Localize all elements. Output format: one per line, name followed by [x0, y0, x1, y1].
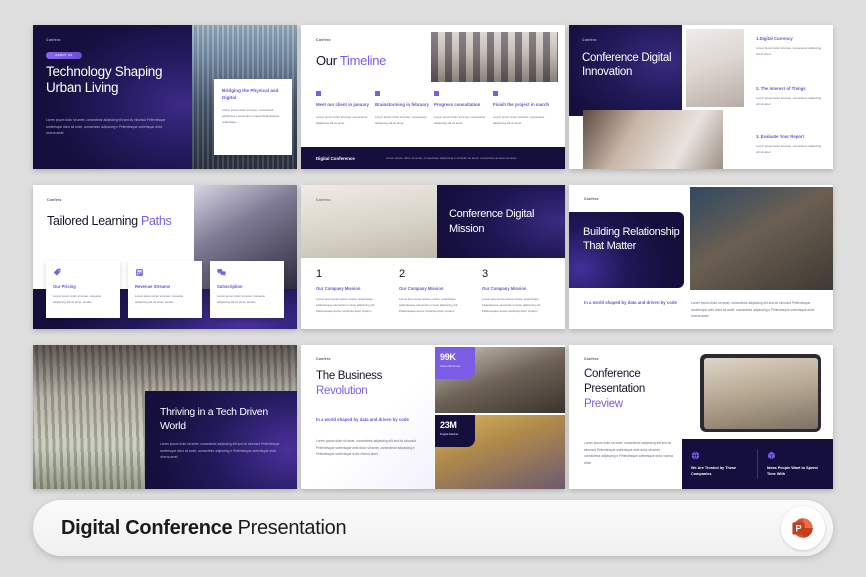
- globe-icon: [691, 451, 700, 460]
- slide2-logo: Confero: [316, 38, 331, 42]
- slide3-item-1-label: 1.Digital Currency: [756, 36, 824, 41]
- slide6-subtitle: In a world shaped by data and driven by …: [584, 299, 677, 306]
- slide9-panel-item-1-title: We Are Trusted by These Companies: [691, 465, 748, 477]
- price-tag-icon: [53, 268, 62, 277]
- slide4-title: Tailored Learning Paths: [47, 213, 197, 229]
- slide1-title: Technology Shaping Urban Living: [46, 64, 186, 97]
- step-marker-icon: [434, 91, 439, 96]
- slide2-title: Our Timeline: [316, 53, 386, 68]
- slide4-card-2-title: Revenue Streams: [135, 284, 195, 289]
- slide3-item-2-label: 2. The Interest of Things: [756, 86, 824, 91]
- slide8-logo: Confero: [316, 357, 331, 361]
- slide2-title-part2: Timeline: [340, 53, 386, 68]
- slide8-stat-2-label: Digital Market: [440, 432, 470, 436]
- preview-canvas: Confero ABOUT US Technology Shaping Urba…: [0, 0, 866, 577]
- slide5-col-2-body: Lorem ipsu conse tectus ornare, sceleris…: [399, 296, 471, 314]
- slide5-logo: Confero: [316, 198, 331, 202]
- slide8-stat-1-label: Client Business: [440, 364, 470, 368]
- slide5-col-3-number: 3: [482, 268, 554, 280]
- slide1-panel: [33, 25, 192, 169]
- slide1-body: Lorem ipsum dolor sit amet, consectetur …: [46, 117, 166, 137]
- slide-thumbnail-1[interactable]: Confero ABOUT US Technology Shaping Urba…: [33, 25, 297, 169]
- slide2-photo: [431, 32, 558, 82]
- slide-thumbnail-9[interactable]: Confero Conference PresentationPreview L…: [569, 345, 833, 489]
- slide7-body: Lorem ipsum dolor sit amet, consectetur …: [160, 441, 284, 461]
- slide4-title-part1: Tailored Learning: [47, 214, 141, 228]
- slide2-title-part1: Our: [316, 53, 340, 68]
- slide2-step-3-label: Progress consultation: [434, 102, 492, 109]
- slide9-tablet-frame: [700, 354, 821, 432]
- slide8-title: The BusinessRevolution: [316, 369, 432, 399]
- slide9-panel-item-2-title: Ideas People Want to Spend Time With: [767, 465, 824, 477]
- slide9-title-part2: Preview: [584, 398, 623, 410]
- slide9-panel-item-2: Ideas People Want to Spend Time With: [758, 451, 833, 477]
- slide1-card-body: Lorem ipsum dolor sit amet, consectetur …: [222, 107, 284, 125]
- slide5-col-1-number: 1: [316, 268, 388, 280]
- slide1-badge: ABOUT US: [46, 52, 82, 59]
- slide-thumbnail-8[interactable]: Confero The BusinessRevolution In a worl…: [301, 345, 565, 489]
- slide1-card: Bridging the Physical and Digital Lorem …: [214, 79, 292, 155]
- slide2-step-1: Meet our client in january Lorem ipsum d…: [316, 91, 374, 126]
- slide8-stat-1: 99K Client Business: [435, 347, 475, 379]
- slide5-title-panel: Conference Digital Mission: [437, 185, 565, 258]
- slide3-item-2-body: Lorem ipsum dolor sit amet, consectetur …: [756, 95, 824, 107]
- slide-thumbnail-7[interactable]: Thriving in a Tech Driven World Lorem ip…: [33, 345, 297, 489]
- slide2-step-2: Brainstorming in february Lorem ipsum do…: [375, 91, 433, 126]
- slide8-stat-1-value: 99K: [440, 352, 470, 362]
- slide4-card-1-title: Our Pricing: [53, 284, 113, 289]
- slide5-col-2-title: Our Company Mission: [399, 286, 471, 291]
- step-marker-icon: [316, 91, 321, 96]
- slide2-step-2-label: Brainstorming in february: [375, 102, 433, 109]
- slide-thumbnail-3[interactable]: Confero Conference Digital Innovation 1.…: [569, 25, 833, 169]
- slide3-item-1: 1.Digital Currency Lorem ipsum dolor sit…: [756, 36, 824, 57]
- slide2-step-4-label: Finish the project in march: [493, 102, 551, 109]
- slide9-photo: [704, 358, 818, 429]
- slide6-logo: Confero: [584, 197, 599, 201]
- slide4-card-3-title: Subscription: [217, 284, 277, 289]
- slide5-col-1-title: Our Company Mission: [316, 286, 388, 291]
- svg-text:P: P: [795, 524, 801, 534]
- slide5-col-1-body: Lorem ipsu conse tectus ornare, sceleris…: [316, 296, 388, 314]
- slide4-logo: Confero: [47, 198, 62, 202]
- slide8-title-part1: The Business: [316, 370, 382, 382]
- slide1-badge-label: ABOUT US: [55, 54, 73, 57]
- title-regular-part: Presentation: [232, 517, 346, 539]
- slide-thumbnail-6[interactable]: Confero Building Relationship That Matte…: [569, 185, 833, 329]
- slide1-logo: Confero: [46, 38, 61, 42]
- slide3-photo-2: [583, 110, 723, 169]
- slide5-col-3-title: Our Company Mission: [482, 286, 554, 291]
- step-marker-icon: [375, 91, 380, 96]
- slide-thumbnail-4[interactable]: Confero Tailored Learning Paths Our Pric…: [33, 185, 297, 329]
- slide7-title: Thriving in a Tech Driven World: [160, 406, 288, 434]
- slide3-item-3-body: Lorem ipsum dolor sit amet, consectetur …: [756, 143, 824, 155]
- slide2-step-1-body: Lorem ipsum dolor sit amet, consectetur …: [316, 114, 374, 126]
- slide2-step-4-body: Lorem ipsum dolor sit amet, consectetur …: [493, 114, 551, 126]
- slide3-item-3: 3. Evaluate Your Report Lorem ipsum dolo…: [756, 134, 824, 155]
- title-bold-part: Digital Conference: [61, 517, 232, 539]
- slide4-title-part2: Paths: [141, 214, 171, 228]
- slide3-logo: Confero: [582, 38, 597, 42]
- slide5-title: Conference Digital Mission: [449, 207, 565, 236]
- slide3-list: 1.Digital Currency Lorem ipsum dolor sit…: [747, 25, 833, 169]
- bottom-title-bar: Digital Conference Presentation P: [33, 500, 833, 556]
- slide3-item-2: 2. The Interest of Things Lorem ipsum do…: [756, 86, 824, 107]
- slide-thumbnail-5[interactable]: Confero Conference Digital Mission 1 Our…: [301, 185, 565, 329]
- slide5-col-1: 1 Our Company Mission Lorem ipsu conse t…: [316, 268, 388, 314]
- slide2-step-1-label: Meet our client in january: [316, 102, 374, 109]
- powerpoint-icon: P: [790, 515, 816, 541]
- slide8-stat-2-value: 23M: [440, 420, 470, 430]
- slide9-panel-item-1: We Are Trusted by These Companies: [682, 451, 757, 477]
- slide8-subtitle: In a world shaped by data and driven by …: [316, 416, 409, 423]
- slide6-body: Lorem ipsum dolor sit amet, consectetur …: [691, 300, 823, 320]
- slide8-body: Lorem ipsum dolor sit amet, consectetur …: [316, 438, 418, 458]
- slide3-title: Conference Digital Innovation: [582, 51, 682, 80]
- slide2-footer: Digital Conference Lorem ipsum dolor sit…: [301, 147, 565, 169]
- slide6-title: Building Relationship That Matter: [583, 225, 683, 254]
- slide9-logo: Confero: [584, 357, 599, 361]
- slide-thumbnail-2[interactable]: Confero Our Timeline Meet our client in …: [301, 25, 565, 169]
- slide2-footer-brand: Digital Conference: [316, 156, 355, 161]
- powerpoint-badge[interactable]: P: [781, 506, 825, 550]
- slide2-step-3: Progress consultation Lorem ipsum dolor …: [434, 91, 492, 126]
- cube-icon: [767, 451, 776, 460]
- slide5-col-2: 2 Our Company Mission Lorem ipsu conse t…: [399, 268, 471, 314]
- step-marker-icon: [493, 91, 498, 96]
- slide3-photo-1: [686, 29, 744, 107]
- slide3-item-3-label: 3. Evaluate Your Report: [756, 134, 824, 139]
- slide4-card-2-body: Lorem ipsum dolor sit amet, consecte adi…: [135, 293, 195, 305]
- slide5-col-2-number: 2: [399, 268, 471, 280]
- slide2-step-3-body: Lorem ipsum dolor sit amet, consectetur …: [434, 114, 492, 126]
- slide9-title: Conference PresentationPreview: [584, 367, 704, 412]
- slide4-card-3[interactable]: Subscription Lorem ipsum dolor sit amet,…: [210, 261, 284, 318]
- slide8-title-part2: Revolution: [316, 385, 367, 397]
- slide5-col-3: 3 Our Company Mission Lorem ipsu conse t…: [482, 268, 554, 314]
- slide9-panel: We Are Trusted by These Companies Ideas …: [682, 439, 833, 489]
- slide2-footer-text: Lorem ipsum dolor sit amet, consectetur …: [386, 156, 517, 160]
- slide4-card-3-body: Lorem ipsum dolor sit amet, consecte adi…: [217, 293, 277, 305]
- slide9-body: Lorem ipsum dolor sit amet, consectetur …: [584, 440, 676, 466]
- slide4-card-1-body: Lorem ipsum dolor sit amet, consecte adi…: [53, 293, 113, 305]
- slide8-stat-2: 23M Digital Market: [435, 415, 475, 447]
- slide2-step-2-body: Lorem ipsum dolor sit amet, consectetur …: [375, 114, 433, 126]
- slide4-card-2[interactable]: Revenue Streams Lorem ipsum dolor sit am…: [128, 261, 202, 318]
- presentation-title: Digital Conference Presentation: [61, 517, 346, 540]
- slide2-step-4: Finish the project in march Lorem ipsum …: [493, 91, 551, 126]
- slide3-item-1-body: Lorem ipsum dolor sit amet, consectetur …: [756, 45, 824, 57]
- chat-bubbles-icon: [217, 268, 226, 277]
- slide5-col-3-body: Lorem ipsu conse tectus ornare, sceleris…: [482, 296, 554, 314]
- slide4-card-1[interactable]: Our Pricing Lorem ipsum dolor sit amet, …: [46, 261, 120, 318]
- calculator-icon: [135, 268, 144, 277]
- slide6-photo: [690, 187, 833, 290]
- slide1-card-title: Bridging the Physical and Digital: [222, 88, 284, 102]
- slide9-title-part1: Conference Presentation: [584, 368, 645, 395]
- slide-grid: Confero ABOUT US Technology Shaping Urba…: [33, 25, 833, 489]
